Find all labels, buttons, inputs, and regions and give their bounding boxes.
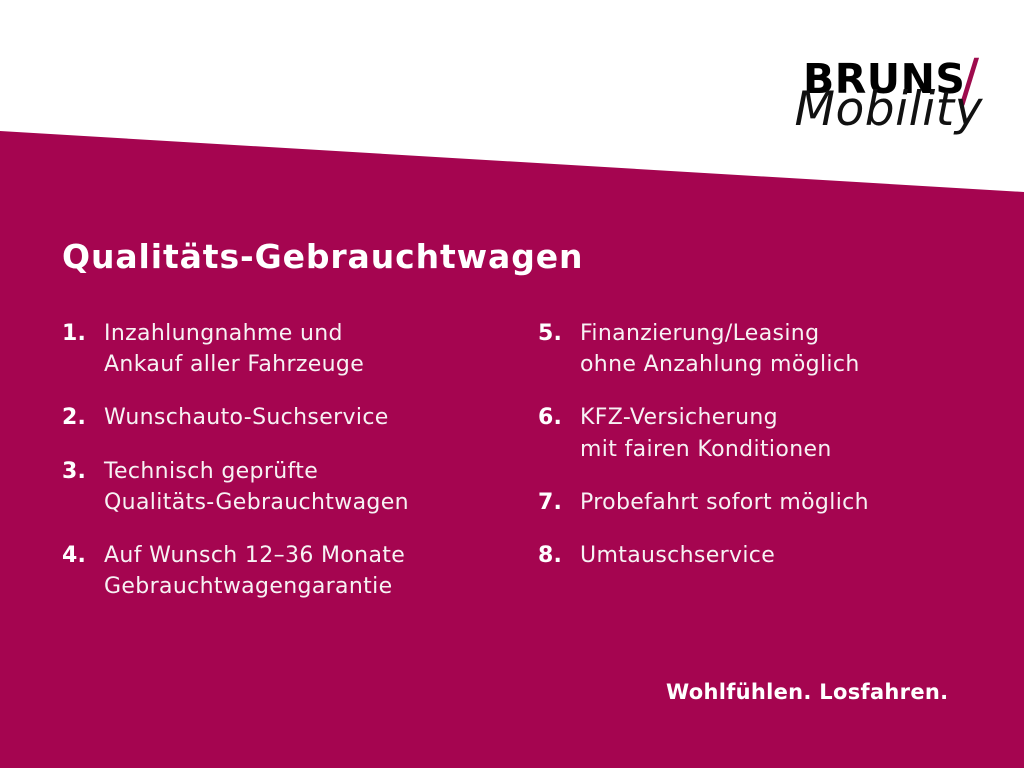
- logo-submark-mobility: Mobility: [794, 82, 983, 137]
- list-item-text: Wunschauto-Suchservice: [104, 402, 522, 433]
- list-item-text: Umtauschservice: [580, 540, 988, 571]
- list-item-number: 3.: [62, 456, 104, 487]
- feature-list-left-column: 1. Inzahlungnahme und Ankauf aller Fahrz…: [62, 318, 522, 625]
- list-item-line: mit fairen Konditionen: [580, 434, 988, 465]
- list-item-number: 8.: [538, 540, 580, 571]
- list-item-text: Auf Wunsch 12–36 Monate Gebrauchtwagenga…: [104, 540, 522, 602]
- logo-secondary-row: Mobility: [794, 86, 983, 133]
- list-item-line: Inzahlungnahme und: [104, 318, 522, 349]
- list-item-line: Gebrauchtwagengarantie: [104, 571, 522, 602]
- list-item-line: Auf Wunsch 12–36 Monate: [104, 540, 522, 571]
- list-item: 2. Wunschauto-Suchservice: [62, 402, 522, 433]
- list-item-number: 6.: [538, 402, 580, 433]
- list-item-line: Wunschauto-Suchservice: [104, 402, 522, 433]
- list-item-line: Finanzierung/Leasing: [580, 318, 988, 349]
- list-item-text: Technisch geprüfte Qualitäts-Gebrauchtwa…: [104, 456, 522, 518]
- list-item: 1. Inzahlungnahme und Ankauf aller Fahrz…: [62, 318, 522, 380]
- list-item-line: KFZ-Versicherung: [580, 402, 988, 433]
- list-item-line: Technisch geprüfte: [104, 456, 522, 487]
- list-item-line: ohne Anzahlung möglich: [580, 349, 988, 380]
- list-item-number: 7.: [538, 487, 580, 518]
- list-item: 8. Umtauschservice: [538, 540, 988, 571]
- list-item-text: Probefahrt sofort möglich: [580, 487, 988, 518]
- list-item: 6. KFZ-Versicherung mit fairen Kondition…: [538, 402, 988, 464]
- list-item: 5. Finanzierung/Leasing ohne Anzahlung m…: [538, 318, 988, 380]
- brand-logo: BRUNS/ Mobility: [655, 44, 985, 154]
- list-item-line: Umtauschservice: [580, 540, 988, 571]
- list-item-text: Finanzierung/Leasing ohne Anzahlung mögl…: [580, 318, 988, 380]
- list-item: 3. Technisch geprüfte Qualitäts-Gebrauch…: [62, 456, 522, 518]
- list-item-line: Qualitäts-Gebrauchtwagen: [104, 487, 522, 518]
- list-item-number: 2.: [62, 402, 104, 433]
- list-item: 4. Auf Wunsch 12–36 Monate Gebrauchtwage…: [62, 540, 522, 602]
- list-item-line: Ankauf aller Fahrzeuge: [104, 349, 522, 380]
- feature-list-right-column: 5. Finanzierung/Leasing ohne Anzahlung m…: [538, 318, 988, 593]
- slide-canvas: BRUNS/ Mobility Qualitäts-Gebrauchtwagen…: [0, 0, 1024, 768]
- list-item-number: 1.: [62, 318, 104, 349]
- list-item-text: Inzahlungnahme und Ankauf aller Fahrzeug…: [104, 318, 522, 380]
- brand-tagline: Wohlfühlen. Losfahren.: [666, 680, 948, 704]
- list-item: 7. Probefahrt sofort möglich: [538, 487, 988, 518]
- list-item-number: 4.: [62, 540, 104, 571]
- list-item-number: 5.: [538, 318, 580, 349]
- list-item-text: KFZ-Versicherung mit fairen Konditionen: [580, 402, 988, 464]
- list-item-line: Probefahrt sofort möglich: [580, 487, 988, 518]
- page-title: Qualitäts-Gebrauchtwagen: [62, 238, 583, 276]
